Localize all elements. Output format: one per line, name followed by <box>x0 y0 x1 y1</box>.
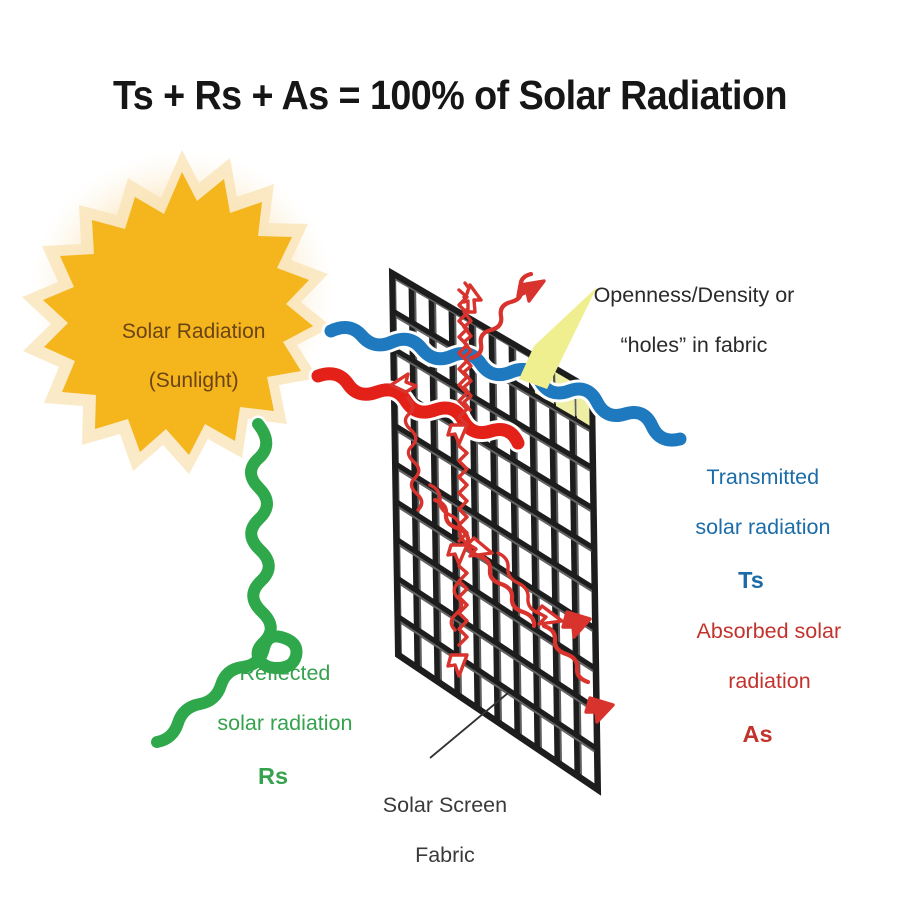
absorbed-symbol: As <box>645 721 870 748</box>
fabric-callout-label: Solar Screen Fabric <box>338 768 528 894</box>
sun-label-line2: (Sunlight) <box>149 369 239 392</box>
openness-line2: “holes” in fabric <box>620 333 767 357</box>
fabric-line2: Fabric <box>415 843 475 867</box>
transmitted-line1: Transmitted <box>706 465 819 489</box>
openness-callout-label: Openness/Density or “holes” in fabric <box>548 258 816 384</box>
openness-line1: Openness/Density or <box>594 283 795 307</box>
diagram-canvas: Ts + Rs + As = 100% of Solar Radiation S… <box>0 0 900 900</box>
reflected-line1: Reflected <box>240 661 331 685</box>
transmitted-symbol: Ts <box>640 567 862 594</box>
reflected-line2: solar radiation <box>217 711 352 735</box>
sun-label-line1: Solar Radiation <box>122 320 266 343</box>
absorbed-line2: radiation <box>728 669 810 693</box>
fabric-line1: Solar Screen <box>383 793 507 817</box>
absorbed-legend-label: Absorbed solar radiation As <box>645 594 870 798</box>
sun-label: Solar Radiation (Sunlight) <box>76 295 288 418</box>
transmitted-line2: solar radiation <box>695 515 830 539</box>
page-title: Ts + Rs + As = 100% of Solar Radiation <box>36 72 864 119</box>
absorbed-line1: Absorbed solar <box>697 619 842 643</box>
